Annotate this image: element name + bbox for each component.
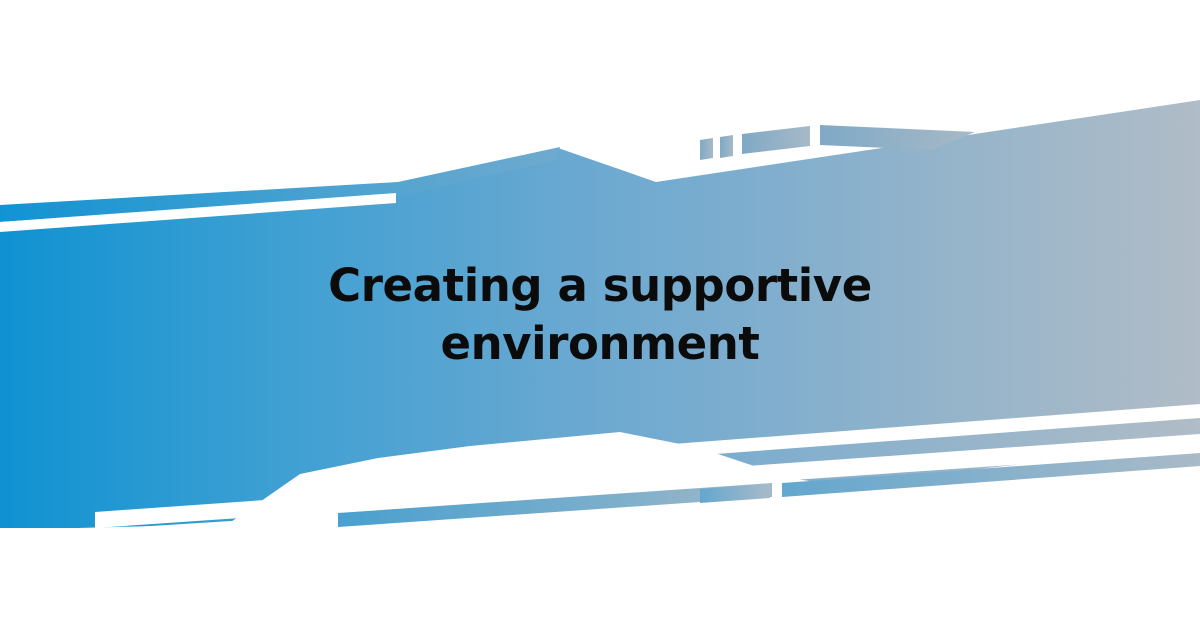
top-dash-square-1 (700, 138, 713, 160)
top-dash-square-2 (720, 135, 733, 158)
banner-graphic: Creating a supportive environment (0, 0, 1200, 630)
top-dash-bar-medium (742, 126, 810, 154)
decorative-background-artwork (0, 0, 1200, 630)
